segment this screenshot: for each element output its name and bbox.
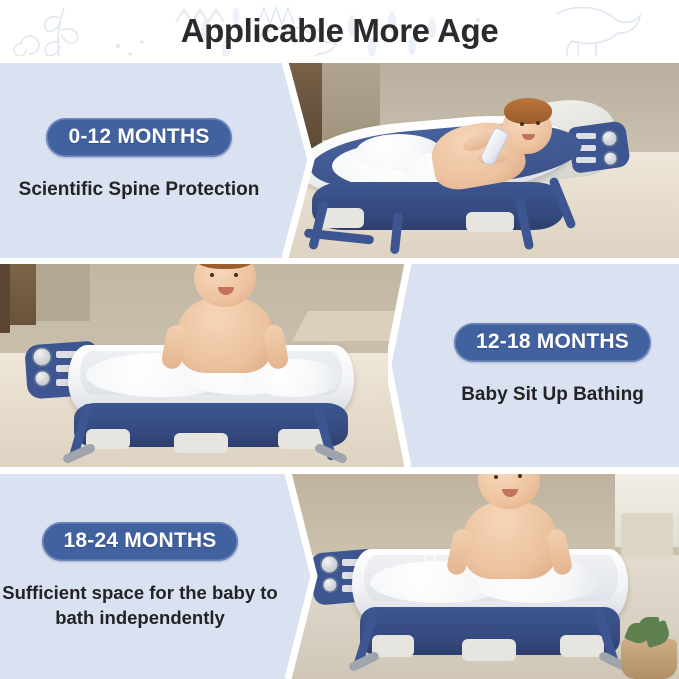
age-row-12-18-months: 12-18 MONTHS Baby Sit Up Bathing	[0, 263, 679, 467]
row-0-12-photo	[282, 62, 679, 258]
page-title: Applicable More Age	[181, 12, 499, 50]
row-0-12-text-panel: 0-12 MONTHS Scientific Spine Protection	[0, 62, 316, 258]
age-badge-12-18: 12-18 MONTHS	[454, 323, 651, 362]
caption-18-24: Sufficient space for the baby to bath in…	[0, 581, 280, 630]
caption-12-18: Baby Sit Up Bathing	[461, 382, 644, 407]
header-divider	[0, 56, 679, 63]
row-18-24-photo	[288, 473, 679, 679]
row-12-18-photo	[0, 263, 420, 467]
age-badge-18-24: 18-24 MONTHS	[42, 522, 239, 561]
row-divider-1	[0, 258, 679, 264]
row-18-24-text-panel: 18-24 MONTHS Sufficient space for the ba…	[0, 473, 318, 679]
caption-0-12: Scientific Spine Protection	[19, 177, 260, 202]
row-12-18-text-panel: 12-18 MONTHS Baby Sit Up Bathing	[388, 263, 679, 467]
header: Applicable More Age	[0, 0, 679, 62]
age-row-0-12-months: 0-12 MONTHS Scientific Spine Protection	[0, 62, 679, 258]
row-divider-2	[0, 467, 679, 474]
age-badge-0-12: 0-12 MONTHS	[46, 118, 231, 157]
age-row-18-24-months: 18-24 MONTHS Sufficient space for the ba…	[0, 473, 679, 679]
